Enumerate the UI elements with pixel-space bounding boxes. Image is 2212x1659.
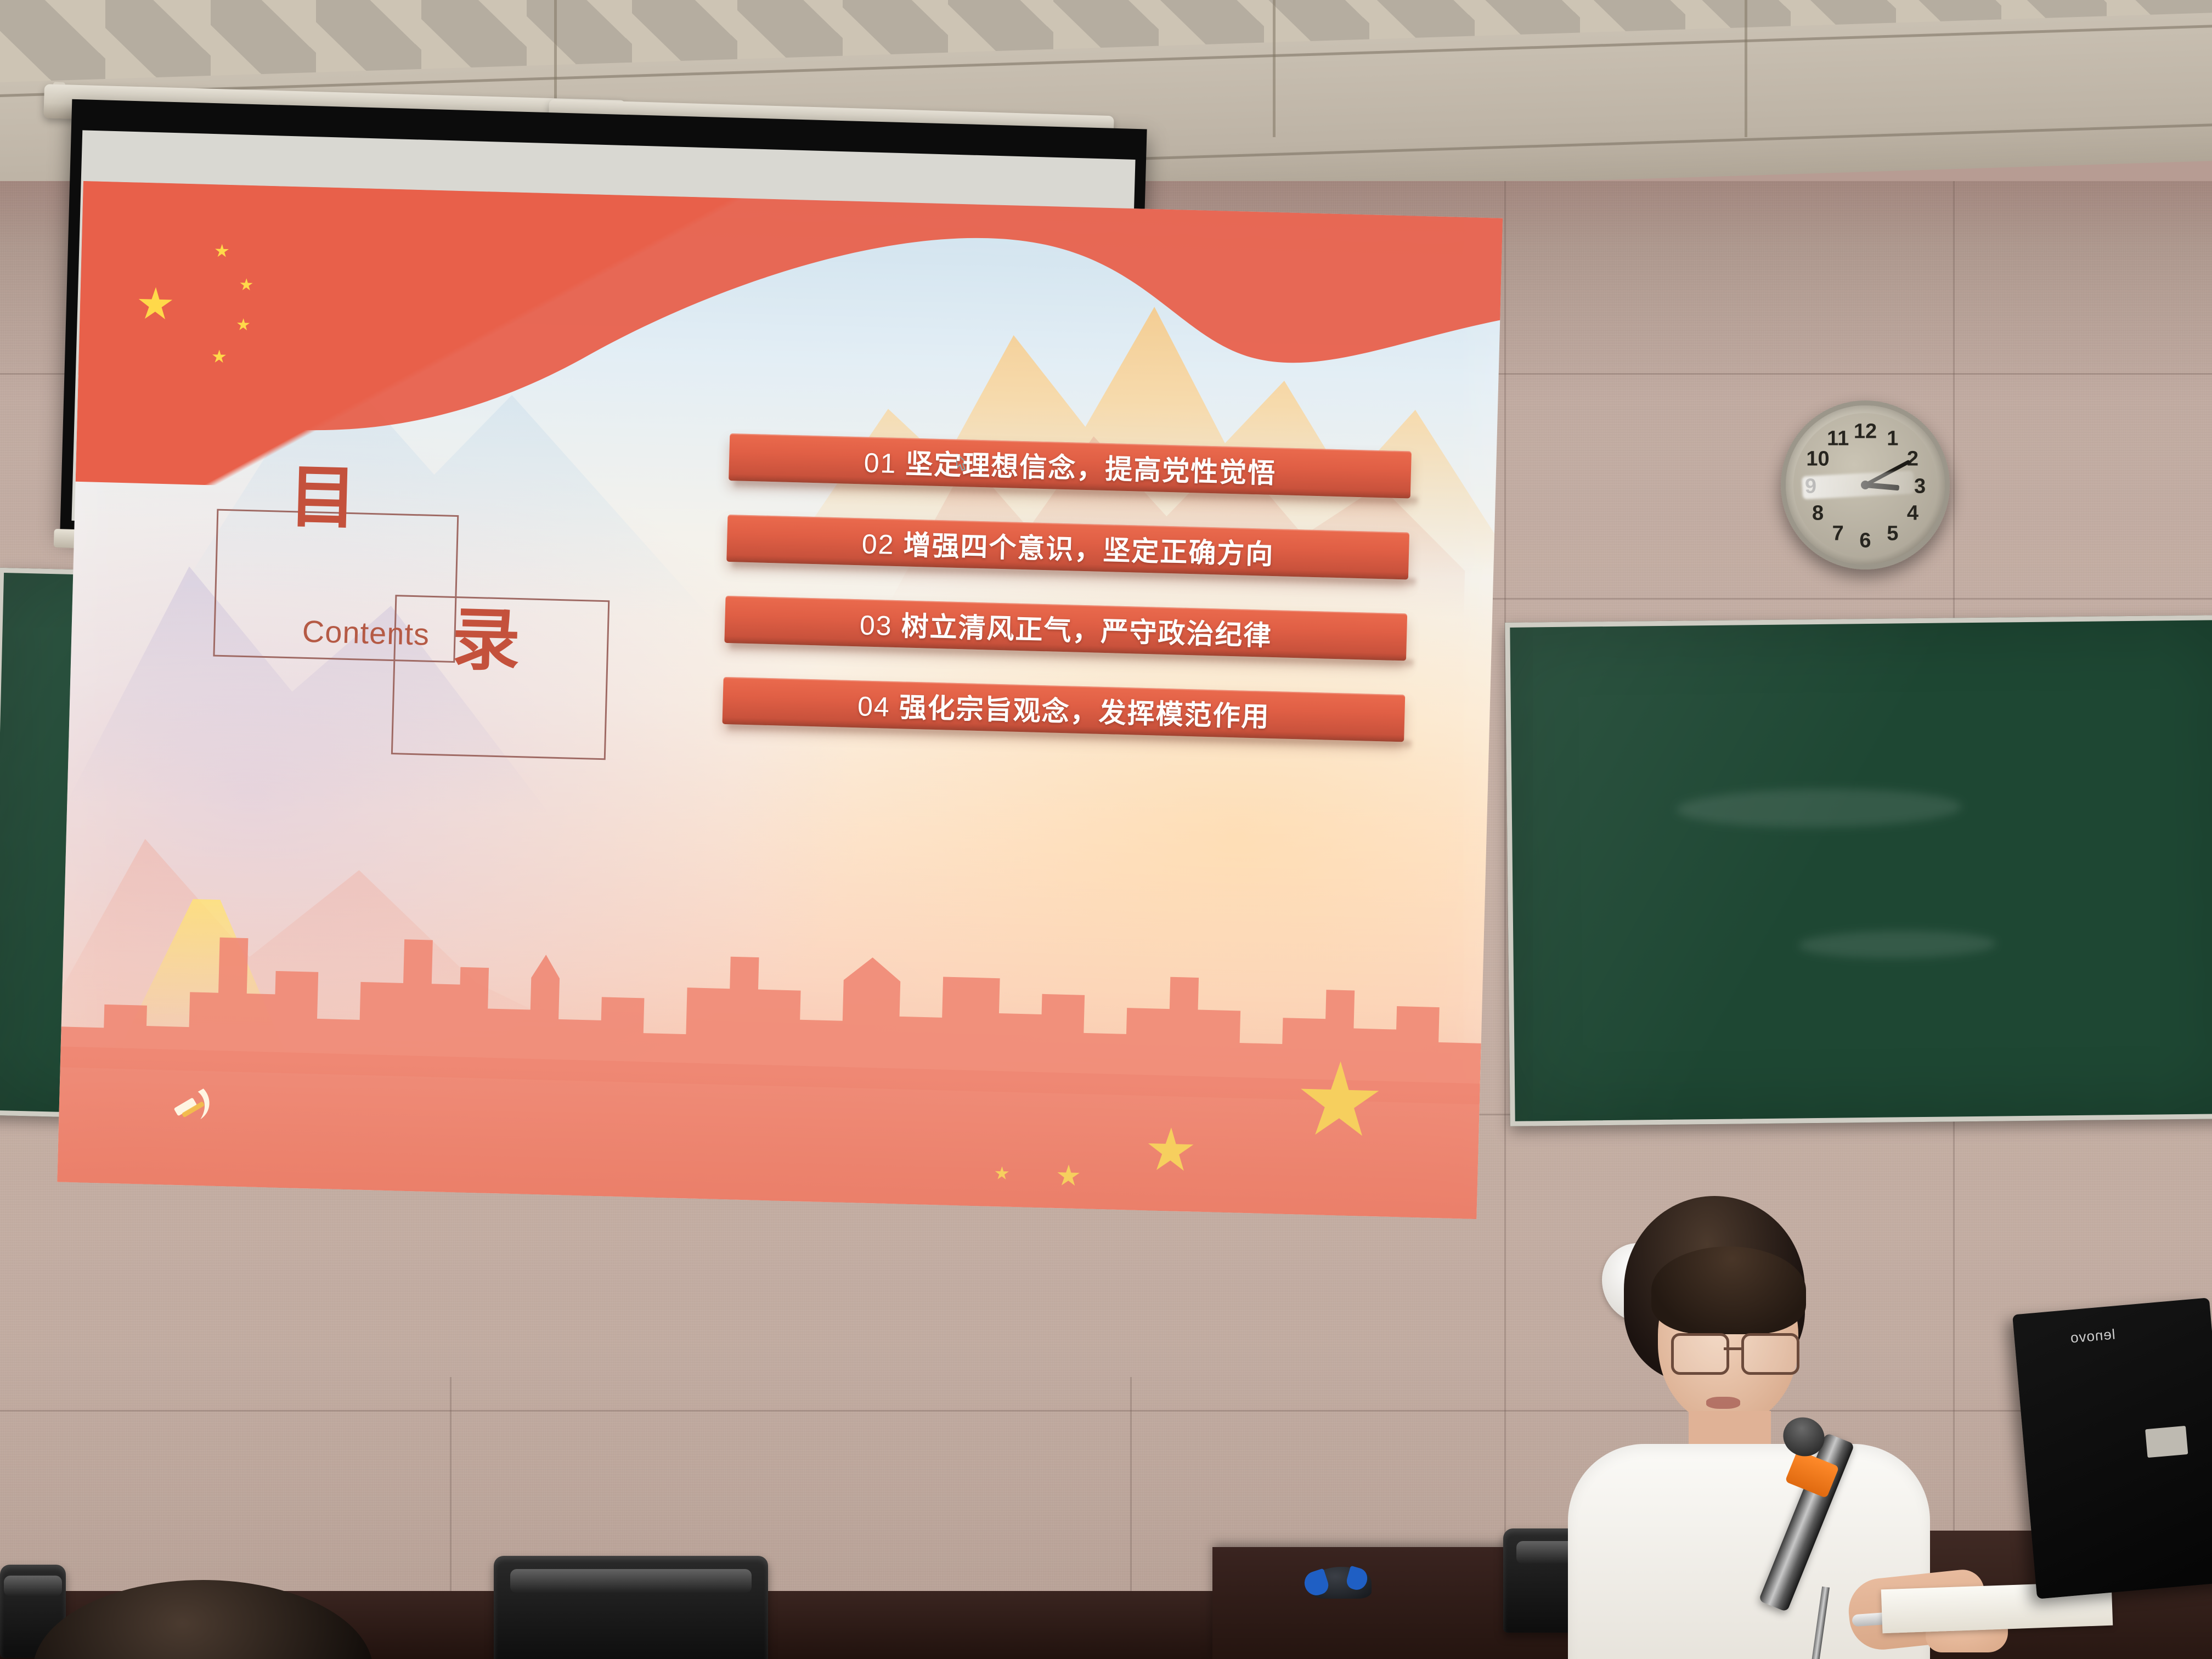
contents-bar-03-number: 03 (859, 610, 893, 641)
chalkboard-right (1505, 615, 2212, 1126)
contents-bar-04-number: 04 (857, 691, 890, 723)
chair-back (494, 1556, 768, 1659)
flag-star-small (212, 349, 227, 364)
flag-star-large (137, 286, 173, 323)
wall-tile-line-5 (1504, 181, 1506, 1659)
projected-slide: 目 录 Contents 01坚定理想信念，提高党性觉悟 02增强四个意识，坚定… (57, 181, 1503, 1219)
contents-bar-03-label: 树立清风正气，严守政治纪律 (901, 611, 1272, 651)
contents-bar-02[interactable]: 02增强四个意识，坚定正确方向 (727, 515, 1409, 579)
monitor-spec-sticker (2145, 1426, 2188, 1458)
glasses-icon (1671, 1333, 1794, 1369)
clock-face: 12 1 2 3 4 5 6 7 8 9 10 11 (1793, 413, 1937, 557)
clock-number: 4 (1907, 502, 1918, 526)
clock-number: 2 (1907, 447, 1918, 471)
contents-char-mu: 目 (288, 463, 358, 533)
contents-bar-01-number: 01 (864, 447, 897, 479)
contents-bar-list: 01坚定理想信念，提高党性觉悟 02增强四个意识，坚定正确方向 03树立清风正气… (721, 433, 1411, 776)
contents-bar-03[interactable]: 03树立清风正气，严守政治纪律 (725, 596, 1407, 661)
chair-sheen (4, 1576, 62, 1596)
clock-number: 12 (1854, 420, 1877, 444)
clock-number: 7 (1832, 522, 1844, 546)
chalk-smear (1798, 930, 1996, 960)
flag-stars-group (128, 222, 331, 387)
blue-object-on-desk (1311, 1567, 1372, 1599)
contents-bar-02-label: 增强四个意识，坚定正确方向 (903, 529, 1274, 570)
flag-star-small (236, 318, 250, 332)
clock-number: 8 (1812, 502, 1824, 526)
hammer-sickle-emblem (165, 1078, 222, 1135)
glasses-lens-left (1671, 1333, 1729, 1375)
contents-bar-01-label: 坚定理想信念，提高党性觉悟 (905, 448, 1277, 489)
city-skyline-group (57, 922, 1483, 1219)
ceiling-rail-v3 (1745, 0, 1747, 137)
clock-number: 10 (1806, 447, 1829, 471)
contents-bar-02-number: 02 (861, 528, 895, 560)
glasses-bridge (1724, 1347, 1741, 1350)
clock-glare (1802, 471, 1915, 500)
clock-number: 3 (1914, 475, 1926, 498)
contents-bar-04-label: 强化宗旨观念，发挥模范作用 (899, 692, 1270, 732)
clock-number: 5 (1887, 522, 1898, 546)
glasses-lens-right (1741, 1333, 1799, 1375)
flag-star-small (240, 278, 253, 292)
chalkboard-right-sheen (1510, 620, 2212, 1121)
contents-bar-04[interactable]: 04强化宗旨观念，发挥模范作用 (723, 677, 1405, 742)
contents-subtitle: Contents (302, 613, 430, 652)
chalk-smear (1676, 787, 1962, 828)
chair-sheen (510, 1569, 752, 1593)
monitor-brand-label: lenovo (2069, 1326, 2116, 1347)
clock-number: 1 (1887, 427, 1898, 451)
clock-number: 11 (1827, 427, 1849, 451)
presenter-mouth (1706, 1397, 1740, 1409)
wall-clock: 12 1 2 3 4 5 6 7 8 9 10 11 (1781, 400, 1950, 569)
contents-logo: 目 录 Contents (210, 455, 558, 764)
contents-char-lu: 录 (451, 605, 521, 675)
lenovo-monitor[interactable]: lenovo (2012, 1297, 2212, 1599)
flag-star-small (215, 244, 229, 258)
lecture-hall-scene: 12 1 2 3 4 5 6 7 8 9 10 11 (0, 0, 2212, 1659)
presenter-bangs (1651, 1246, 1806, 1334)
ceiling-rail-v2 (1273, 0, 1276, 137)
clock-number: 6 (1859, 529, 1871, 553)
